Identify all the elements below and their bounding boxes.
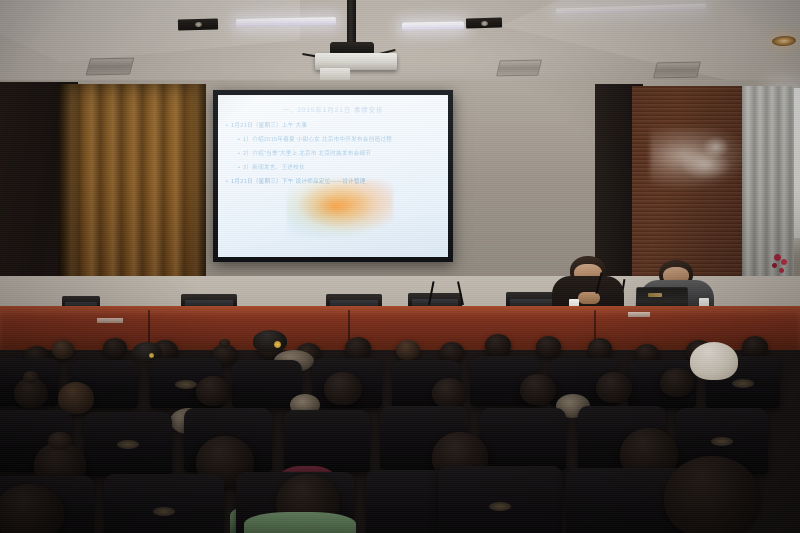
black-cap [253,330,287,352]
seat-badge [711,437,733,446]
auditorium-seat [104,474,224,533]
seat-trim [0,405,76,421]
slide-bullet-text: 1）介绍2015年春夏 小甜心女 北京市中开发布会创造过程 [243,137,392,145]
seat-trim [672,403,772,419]
seat-badge [732,379,754,388]
slide-bullet-text: 3）新闻发言、王进校长 [243,165,305,173]
white-knit-hat [690,342,738,380]
slide-bullet-text: 1月21日（星期三）下午 设计师品定位——设计管理 [231,179,366,187]
slide-bullet: • 1）介绍2015年春夏 小甜心女 北京市中开发布会创造过程 [226,137,440,145]
seat-trim [574,401,670,417]
laptop-logo [648,293,662,297]
auditorium-seat [284,410,370,472]
recessed-light-strip [402,21,464,30]
seat-trim [146,353,226,369]
seat-badge [175,380,197,389]
seat-trim [308,353,386,369]
bullet-dot-icon: • [226,123,228,130]
seat-trim [80,407,176,423]
seat-trim [376,401,472,417]
auditorium-seat [480,408,566,470]
air-vent [496,60,542,77]
seat-trim [476,403,570,419]
cap-logo-icon [274,341,281,348]
ceiling-spotlight-icon [178,18,218,30]
audience-member [14,378,48,408]
seat-trim [280,405,374,421]
air-vent [653,62,701,79]
auditorium-seat [84,412,172,476]
seat-trim [434,461,566,477]
seat-badge [117,440,139,449]
conference-hall-photo: 一、2015年1月21日 事情安排 • 1月21日（星期三）上午 大事 • 1）… [0,0,800,533]
audience-member [596,372,632,403]
ceiling-spotlight-icon [466,18,502,29]
seat-trim [466,351,544,367]
audience-member [664,456,760,533]
slide-bullet: • 3）新闻发言、王进校长 [226,165,440,173]
projection-screen-frame: 一、2015年1月21日 事情安排 • 1月21日（星期三）上午 大事 • 1）… [213,90,453,262]
seat-badge [153,507,175,516]
slide-bullet: • 1月21日（星期三）上午 大事 [226,123,440,131]
wall-light-reflection [702,136,730,158]
bullet-dot-icon: • [238,165,240,172]
audience-member-coat [244,512,356,533]
bullet-dot-icon: • [238,151,240,158]
seat-trim [0,471,98,487]
projector-mount-pole [347,0,356,48]
audience-member [660,368,694,397]
slide-content: 一、2015年1月21日 事情安排 • 1月21日（星期三）上午 大事 • 1）… [218,95,448,187]
auditorium-seat [438,466,562,533]
slide-bullet-text: 2）介绍“当季”大里上 北京市 北京时装发布会细节 [243,151,371,159]
seat-trim [624,355,700,371]
seat-trim [0,353,62,369]
seat-trim [388,355,464,371]
seat-trim [100,469,228,485]
slide-bullet: • 2）介绍“当季”大里上 北京市 北京时装发布会细节 [226,151,440,159]
seat-trim [546,353,622,369]
audience-member [196,376,230,406]
seat-badge [489,502,511,511]
projection-screen-surface: 一、2015年1月21日 事情安排 • 1月21日（星期三）上午 大事 • 1）… [218,95,448,257]
seat-trim [66,355,142,371]
orange-sunburst-graphic [287,179,393,237]
bullet-dot-icon: • [226,179,228,186]
audience-member [324,372,362,405]
audience-member [103,338,127,358]
seat-trim [228,355,306,371]
slide-title: 一、2015年1月21日 事情安排 [226,104,440,114]
slide-bullet-text: 1月21日（星期三）上午 大事 [231,123,307,131]
audience-area [0,316,800,533]
air-vent [86,58,135,76]
seat-trim [180,403,276,419]
bullet-dot-icon: • [238,137,240,144]
slide-bullet: • 1月21日（星期三）下午 设计师品定位——设计管理 [226,179,440,187]
audience-member [520,374,556,405]
